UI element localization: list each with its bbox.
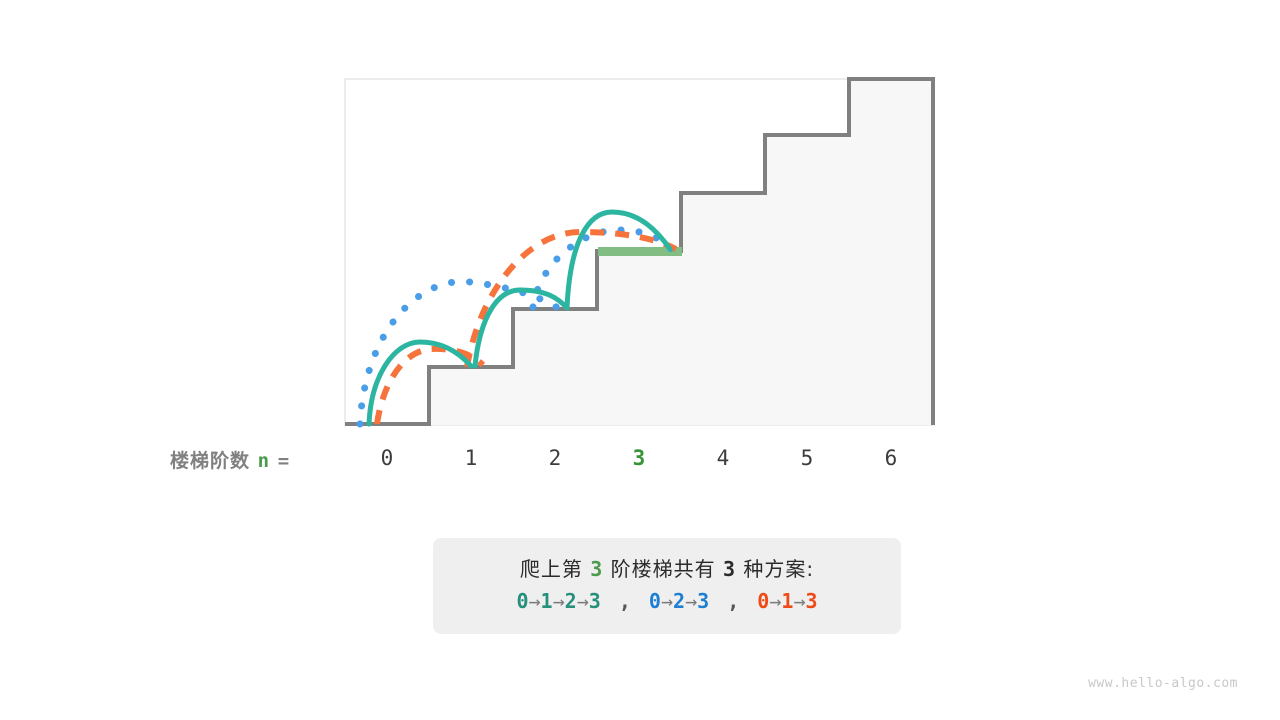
arrow-icon: →: [553, 589, 565, 613]
arrow-icon: →: [661, 589, 673, 613]
tick-3: 3: [619, 446, 659, 470]
arrow-icon: →: [577, 589, 589, 613]
seq1-node-0: 0: [516, 589, 528, 613]
arrow-icon: →: [769, 589, 781, 613]
sequence-separator-2: ,: [721, 589, 745, 613]
caption-step-number: 3: [590, 557, 603, 581]
caption-prefix: 爬上第: [520, 557, 583, 581]
caption-middle: 阶楼梯共有: [611, 557, 716, 581]
sequence-1: 0→1→2→3: [516, 589, 612, 613]
caption-solution-count: 3: [723, 557, 736, 581]
sequence-separator-1: ,: [613, 589, 637, 613]
caption-box: 爬上第 3 阶楼梯共有 3 种方案: 0→1→2→3 , 0→2→3 , 0→1…: [433, 538, 901, 634]
seq3-node-2: 3: [805, 589, 817, 613]
seq1-node-1: 1: [541, 589, 553, 613]
seq3-node-0: 0: [757, 589, 769, 613]
seq3-node-1: 1: [781, 589, 793, 613]
axis-title: 楼梯阶数 n =: [170, 446, 290, 473]
caption-sequences: 0→1→2→3 , 0→2→3 , 0→1→3: [433, 584, 901, 618]
tick-4: 4: [703, 446, 743, 470]
arrow-icon: →: [685, 589, 697, 613]
seq2-node-0: 0: [649, 589, 661, 613]
sequence-2: 0→2→3: [637, 589, 721, 613]
seq1-node-2: 2: [565, 589, 577, 613]
caption-headline: 爬上第 3 阶楼梯共有 3 种方案:: [433, 554, 901, 584]
seq2-node-1: 2: [673, 589, 685, 613]
sequence-3: 0→1→3: [745, 589, 817, 613]
watermark: www.hello-algo.com: [1088, 676, 1238, 691]
axis-variable: n: [258, 450, 270, 472]
tick-2: 2: [535, 446, 575, 470]
seq2-node-2: 3: [697, 589, 709, 613]
arrow-icon: →: [529, 589, 541, 613]
tick-0: 0: [367, 446, 407, 470]
axis-equals: =: [278, 450, 290, 472]
arrow-icon: →: [793, 589, 805, 613]
seq1-node-3: 3: [589, 589, 601, 613]
tick-6: 6: [871, 446, 911, 470]
tick-1: 1: [451, 446, 491, 470]
tick-5: 5: [787, 446, 827, 470]
axis-title-text: 楼梯阶数: [170, 450, 250, 472]
caption-suffix: 种方案:: [743, 557, 814, 581]
axis-label-row: 楼梯阶数 n = 0 1 2 3 4 5 6: [0, 446, 1280, 480]
